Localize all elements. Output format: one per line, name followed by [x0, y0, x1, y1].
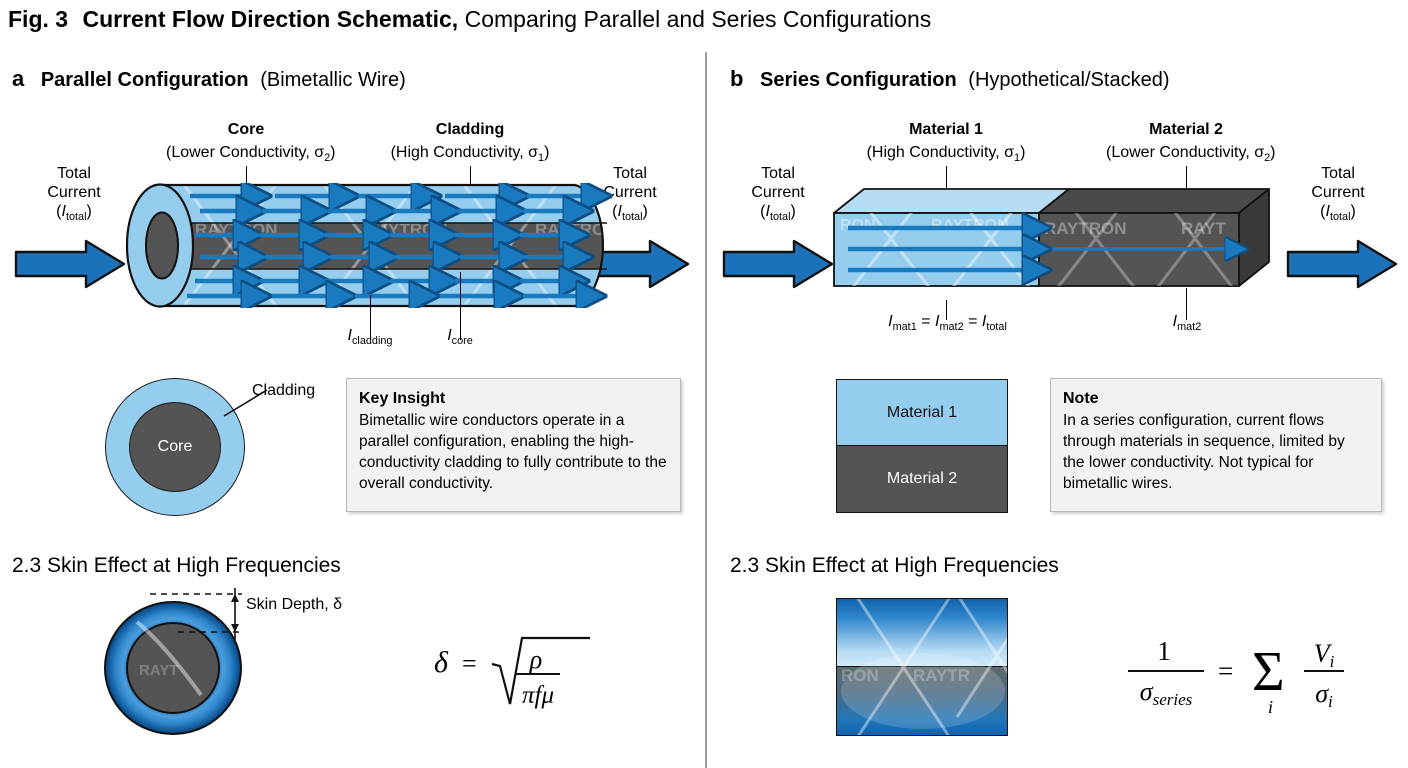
svg-text:RON: RON [841, 666, 879, 685]
skin-effect-heading-b: 2.3 Skin Effect at High Frequencies [730, 554, 1059, 578]
material2-label: Material 2 [1116, 120, 1256, 139]
material-legend: Material 1 Material 2 [836, 379, 1008, 513]
series-3d-bar: RON RAYTRON RAYTRON RAYT [826, 186, 1276, 306]
svg-text:πfμ: πfμ [522, 682, 554, 709]
figure-label: Fig. 3 [8, 6, 68, 32]
note-box: Note In a series configuration, current … [1050, 378, 1382, 512]
series-conductivity-formula: 1 σseries = Σ i Vi σi [1128, 614, 1378, 732]
svg-text:RAYTR: RAYTR [913, 666, 970, 685]
key-insight-box: Key Insight Bimetallic wire conductors o… [346, 378, 681, 512]
skin-depth-label: Skin Depth, δ [246, 595, 396, 614]
key-insight-heading: Key Insight [359, 388, 668, 409]
material1-sublabel: (High Conductivity, σ1) [866, 143, 1026, 168]
svg-text:ρ: ρ [529, 645, 542, 674]
cross-section-cladding-label: Cladding [252, 381, 352, 400]
svg-text:RAYTRON: RAYTRON [1044, 219, 1127, 238]
svg-text:RON: RON [840, 217, 876, 234]
svg-text:σseries: σseries [1140, 677, 1193, 709]
panel-b-letter: b [730, 66, 743, 91]
legend-material2: Material 2 [837, 446, 1007, 512]
svg-text:σi: σi [1315, 679, 1333, 711]
panel-a-letter: a [12, 66, 24, 91]
svg-text:δ: δ [434, 646, 449, 679]
i-equality-label: Imat1 = Imat2 = Itotal [860, 312, 1035, 337]
svg-text:i: i [1268, 697, 1273, 717]
panel-b-title: Series Configuration [760, 69, 957, 91]
panel-b-header: b Series Configuration (Hypothetical/Sta… [730, 66, 1169, 92]
skin-effect-square: RON RAYTR [836, 598, 1008, 736]
input-current-arrow-b [722, 238, 834, 290]
legend-material1: Material 1 [837, 380, 1007, 446]
svg-text:Vi: Vi [1314, 639, 1335, 671]
svg-text:=: = [1218, 656, 1233, 686]
cross-section-core: Core [129, 402, 221, 492]
figure-title-bold: Current Flow Direction Schematic, [82, 6, 458, 32]
note-body: In a series configuration, current flows… [1063, 412, 1345, 492]
svg-text:1: 1 [1157, 636, 1171, 666]
panel-divider [705, 52, 707, 768]
core-sublabel: (Lower Conductivity, σ2) [166, 143, 326, 168]
i-cladding-label: Icladding [320, 326, 420, 351]
i-mat2-label: Imat2 [1146, 312, 1228, 337]
panel-a-header: a Parallel Configuration (Bimetallic Wir… [12, 66, 406, 92]
cladding-label: Cladding [400, 120, 540, 139]
bimetallic-wire-cylinder: RAYTRON RAYTRON RAYTRON [115, 183, 675, 308]
cladding-sublabel: (High Conductivity, σ1) [390, 143, 550, 168]
svg-text:RAYTRON: RAYTRON [931, 217, 1009, 234]
note-heading: Note [1063, 388, 1369, 409]
figure-title: Fig. 3 Current Flow Direction Schematic,… [8, 4, 931, 34]
panel-b-subtitle: (Hypothetical/Stacked) [968, 69, 1169, 91]
input-current-arrow-a [14, 238, 126, 290]
total-current-right-b: Total Current (Itotal) [1278, 164, 1398, 227]
skin-square-watermark: RON RAYTR [837, 599, 1008, 736]
svg-text:RAYT: RAYT [139, 662, 178, 679]
total-current-left-b: Total Current (Itotal) [718, 164, 838, 227]
material1-label: Material 1 [876, 120, 1016, 139]
skin-effect-heading-a: 2.3 Skin Effect at High Frequencies [12, 554, 341, 578]
panel-a-subtitle: (Bimetallic Wire) [260, 69, 406, 91]
i-core-label: Icore [418, 326, 502, 351]
output-current-arrow-b [1286, 238, 1398, 290]
core-label: Core [176, 120, 316, 139]
svg-text:Σ: Σ [1252, 641, 1285, 703]
svg-text:RAYT: RAYT [1181, 219, 1226, 238]
key-insight-body: Bimetallic wire conductors operate in a … [359, 412, 667, 492]
skin-depth-formula: δ = ρ πfμ [430, 620, 630, 730]
figure-canvas: Fig. 3 Current Flow Direction Schematic,… [0, 0, 1408, 768]
material2-sublabel: (Lower Conductivity, σ2) [1106, 143, 1266, 168]
svg-text:=: = [462, 649, 477, 678]
figure-title-rest: Comparing Parallel and Series Configurat… [458, 6, 931, 32]
panel-a-title: Parallel Configuration [41, 69, 249, 91]
